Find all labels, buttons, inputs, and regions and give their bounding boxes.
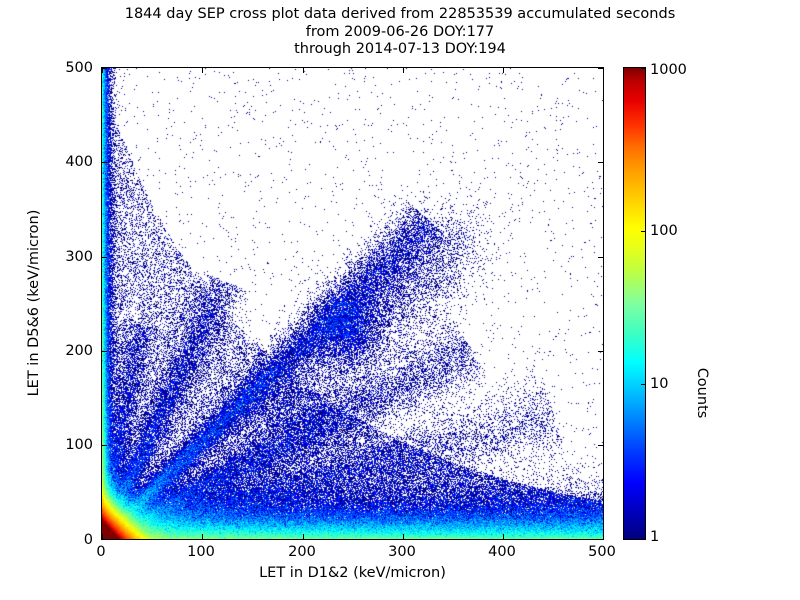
cbticklabel-1: 1 [650,529,659,545]
plot-axes [101,67,604,540]
xticklabel-500: 500 [588,544,616,560]
colorbar-label: Counts [694,293,710,493]
xtick-bottom-200 [303,534,304,539]
xtick-top-500 [603,68,604,73]
colorbar [623,67,646,540]
ytick-left-200 [102,351,107,352]
plot-title-line-1: 1844 day SEP cross plot data derived fro… [0,6,800,24]
cbticklabel-10: 10 [650,376,668,392]
cbtick-10 [641,384,645,385]
plot-title-line-2: from 2009-06-26 DOY:177 [0,24,800,42]
ytick-left-500 [102,68,107,69]
xtick-bottom-500 [603,534,604,539]
xtick-top-100 [202,68,203,73]
cbtick-1000 [641,68,645,69]
yticklabel-300: 300 [49,249,93,265]
xtick-top-300 [403,68,404,73]
figure-canvas: 1844 day SEP cross plot data derived fro… [0,0,800,600]
ytick-right-0 [598,539,603,540]
ytick-right-100 [598,445,603,446]
density-scatter-plot [102,68,603,539]
ytick-right-300 [598,257,603,258]
cbticklabel-100: 100 [650,223,678,239]
yticklabel-500: 500 [49,60,93,76]
ytick-left-100 [102,445,107,446]
ytick-right-200 [598,351,603,352]
ytick-left-0 [102,539,107,540]
ytick-left-400 [102,162,107,163]
xticklabel-0: 0 [96,544,105,560]
ytick-right-500 [598,68,603,69]
xtick-bottom-100 [202,534,203,539]
plot-title-line-3: through 2014-07-13 DOY:194 [0,41,800,59]
x-axis-label: LET in D1&2 (keV/micron) [101,565,604,581]
yticklabel-200: 200 [49,343,93,359]
ytick-right-400 [598,162,603,163]
yticklabel-0: 0 [49,532,93,548]
xticklabel-300: 300 [388,544,416,560]
xtick-top-400 [503,68,504,73]
plot-title: 1844 day SEP cross plot data derived fro… [0,6,800,59]
cbtick-1 [641,539,645,540]
xtick-bottom-400 [503,534,504,539]
xticklabel-400: 400 [488,544,516,560]
xticklabel-200: 200 [288,544,316,560]
cbticklabel-1000: 1000 [650,62,687,78]
xticklabel-100: 100 [187,544,215,560]
ytick-left-300 [102,257,107,258]
cbtick-100 [641,231,645,232]
y-axis-label: LET in D5&6 (keV/micron) [26,153,42,453]
xtick-bottom-300 [403,534,404,539]
yticklabel-100: 100 [49,437,93,453]
yticklabel-400: 400 [49,154,93,170]
xtick-top-200 [303,68,304,73]
